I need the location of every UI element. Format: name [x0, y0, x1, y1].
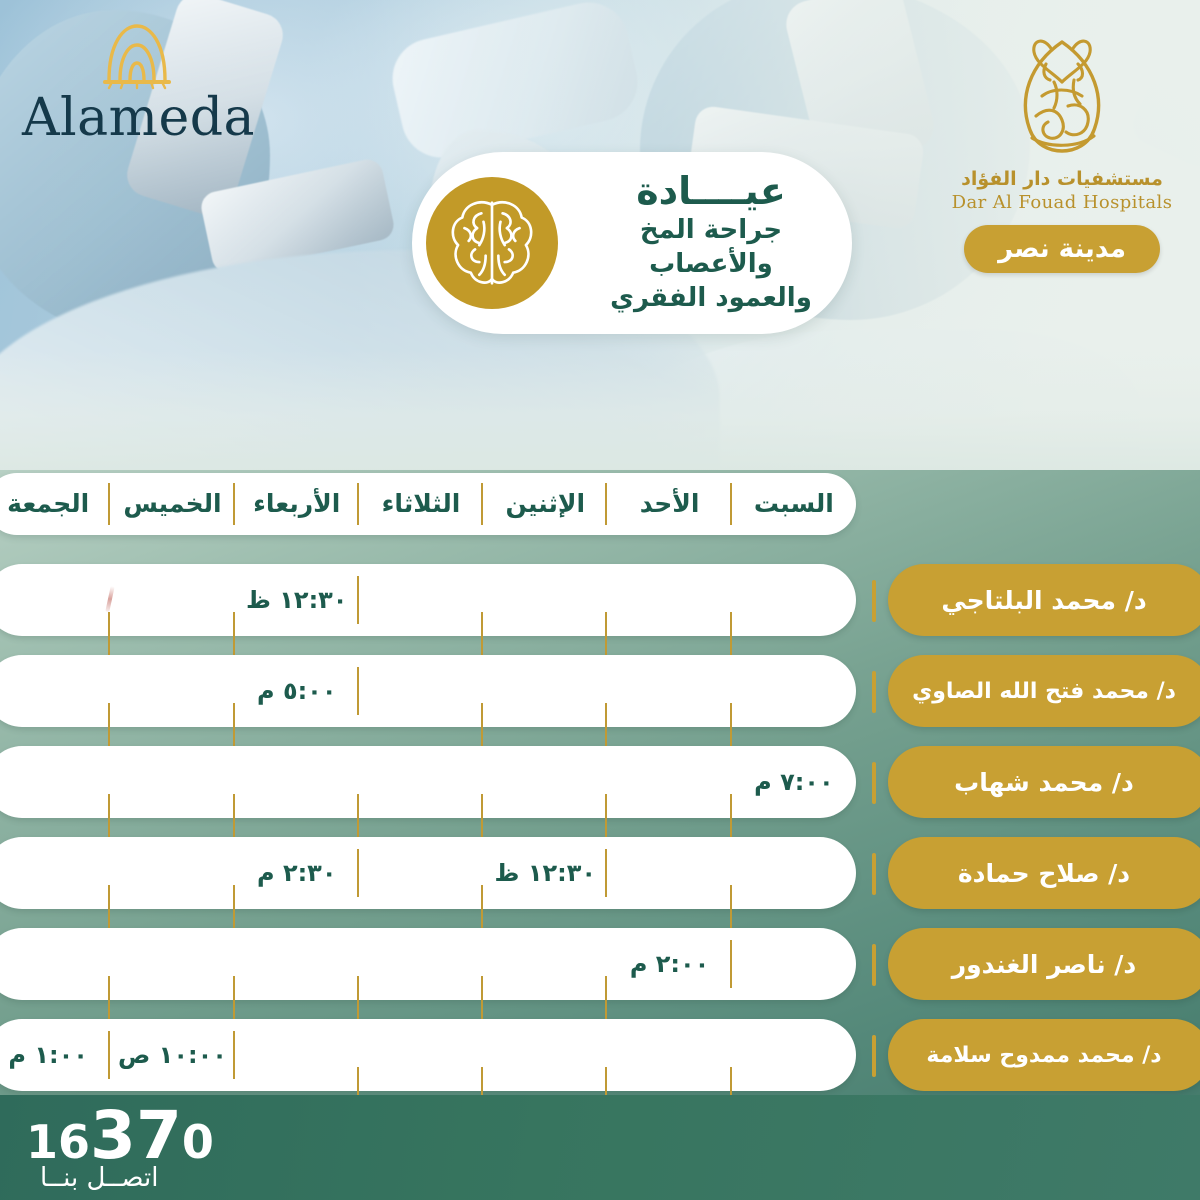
clinic-label: عيــــادة — [586, 170, 836, 214]
doctor-name-label: د/ محمد ممدوح سلامة — [910, 1043, 1187, 1068]
row-divider — [872, 580, 876, 622]
time-slots-pill: ١٢:٣٠ ظ٢:٣٠ م — [0, 837, 856, 909]
clinic-specialty-line-2: والعمود الفقري — [586, 282, 836, 316]
time-slots-pill: ١٢:٣٠ ظ — [0, 564, 856, 636]
schedule-row: ٥:٠٠ مد/ محمد فتح الله الصاوي — [0, 649, 1200, 739]
clinic-schedule-poster: Alameda — [0, 0, 1200, 1200]
hospital-name-arabic: مستشفيات دار الفؤاد — [942, 168, 1182, 190]
row-divider — [872, 1035, 876, 1077]
doctor-name-label: د/ محمد فتح الله الصاوي — [896, 679, 1200, 704]
day-header-cell: الأربعاء — [235, 473, 359, 535]
hotline-number[interactable]: 16370 — [26, 1103, 214, 1169]
contact-us-label: اتصــل بنــا — [40, 1163, 158, 1193]
doctor-name-pill[interactable]: د/ محمد ممدوح سلامة — [888, 1019, 1200, 1091]
doctor-name-label: د/ ناصر الغندور — [936, 950, 1163, 979]
hospital-name-english: Dar Al Fouad Hospitals — [942, 192, 1182, 213]
doctor-name-label: د/ محمد البلتاجي — [925, 586, 1172, 615]
hotline-part-1: 16 — [26, 1115, 90, 1169]
schedule-row: ٢:٠٠ مد/ ناصر الغندور — [0, 922, 1200, 1012]
doctor-name-label: د/ صلاح حمادة — [942, 859, 1156, 888]
brain-icon — [426, 177, 558, 309]
alameda-arch-icon — [99, 18, 175, 90]
time-slots-pill: ٢:٠٠ م — [0, 928, 856, 1000]
time-slots-pill: ٥:٠٠ م — [0, 655, 856, 727]
dar-al-fouad-calligraphy-icon — [996, 20, 1128, 172]
doctor-name-label: د/ محمد شهاب — [938, 768, 1160, 797]
day-header-cell: السبت — [732, 473, 856, 535]
clinic-badge: عيــــادة جراحة المخ والأعصاب والعمود ال… — [412, 152, 852, 334]
day-header-cell: الإثنين — [483, 473, 607, 535]
dar-al-fouad-logo: مستشفيات دار الفؤاد Dar Al Fouad Hospita… — [942, 20, 1182, 273]
doctor-name-pill[interactable]: د/ صلاح حمادة — [888, 837, 1200, 909]
day-header-cell: الخميس — [110, 473, 234, 535]
time-slot-cell: ٧:٠٠ م — [732, 746, 856, 818]
time-slot-cell: ١٠:٠٠ ص — [110, 1019, 234, 1091]
clinic-text-block: عيــــادة جراحة المخ والأعصاب والعمود ال… — [580, 170, 852, 315]
hotline-part-3: 0 — [182, 1115, 214, 1169]
doctor-name-pill[interactable]: د/ محمد شهاب — [888, 746, 1200, 818]
alameda-logo: Alameda — [22, 18, 252, 144]
time-slot-cell: ١٢:٣٠ ظ — [235, 564, 359, 636]
alameda-wordmark: Alameda — [22, 92, 252, 144]
day-header-cell: الثلاثاء — [359, 473, 483, 535]
days-header-row: السبتالأحدالإثنينالثلاثاءالأربعاءالخميسا… — [0, 473, 856, 535]
footer-bar: 16370 اتصــل بنــا — [0, 1095, 1200, 1200]
day-header-cell: الأحد — [607, 473, 731, 535]
time-slot-cell: ٢:٣٠ م — [235, 837, 359, 909]
time-slot-cell: ٥:٠٠ م — [235, 655, 359, 727]
row-divider — [872, 762, 876, 804]
branch-label: مدينة نصر — [998, 234, 1126, 264]
time-slot-cell: ٢:٠٠ م — [607, 928, 731, 1000]
schedule-row: ١٢:٣٠ ظد/ محمد البلتاجي — [0, 558, 1200, 648]
doctor-name-pill[interactable]: د/ ناصر الغندور — [888, 928, 1200, 1000]
time-slot-cell: ١:٠٠ م — [0, 1019, 110, 1091]
ink-artifact-mark — [105, 586, 114, 612]
row-divider — [872, 853, 876, 895]
time-slot-cell: ١٢:٣٠ ظ — [483, 837, 607, 909]
schedule-row: ٧:٠٠ مد/ محمد شهاب — [0, 740, 1200, 830]
doctor-name-pill[interactable]: د/ محمد البلتاجي — [888, 564, 1200, 636]
doctor-name-pill[interactable]: د/ محمد فتح الله الصاوي — [888, 655, 1200, 727]
photo-bottom-fade — [0, 350, 1200, 470]
schedule-row: ١٠:٠٠ ص١:٠٠ مد/ محمد ممدوح سلامة — [0, 1013, 1200, 1103]
row-divider — [872, 944, 876, 986]
branch-badge: مدينة نصر — [964, 225, 1160, 273]
time-slots-pill: ١٠:٠٠ ص١:٠٠ م — [0, 1019, 856, 1091]
row-divider — [872, 671, 876, 713]
day-header-cell: الجمعة — [0, 473, 110, 535]
clinic-specialty-line-1: جراحة المخ والأعصاب — [586, 214, 836, 282]
schedule-row: ١٢:٣٠ ظ٢:٣٠ مد/ صلاح حمادة — [0, 831, 1200, 921]
time-slots-pill: ٧:٠٠ م — [0, 746, 856, 818]
schedule-rows: ١٢:٣٠ ظد/ محمد البلتاجي٥:٠٠ مد/ محمد فتح… — [0, 558, 1200, 1104]
